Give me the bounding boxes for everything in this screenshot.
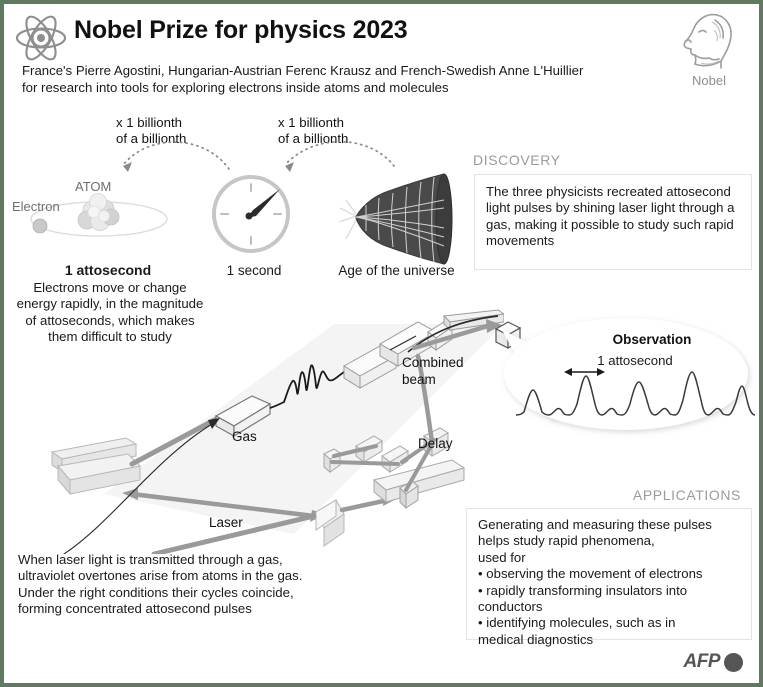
atom-icon — [12, 12, 70, 64]
caption-universe: Age of the universe — [314, 263, 479, 278]
combined-beam-line-2: beam — [402, 372, 464, 389]
discovery-panel: The three physicists recreated attosecon… — [474, 174, 752, 270]
universe-cone-illustration — [339, 174, 452, 264]
applications-bullet-3: • identifying molecules, such as in — [478, 615, 741, 631]
observation-subtitle: 1 attosecond — [560, 353, 710, 368]
infographic-frame: Nobel Prize for physics 2023 France's Pi… — [0, 0, 763, 687]
applications-intro-line-2: helps study rapid phenomena, — [478, 533, 741, 549]
nobel-badge: Nobel — [671, 10, 747, 88]
subtitle-line-2: for research into tools for exploring el… — [22, 79, 682, 96]
clock-illustration — [214, 177, 288, 251]
afp-logo-dot — [724, 653, 743, 672]
applications-bullet-3-cont: medical diagnostics — [478, 632, 741, 648]
label-delay: Delay — [418, 436, 453, 453]
label-gas: Gas — [232, 429, 257, 446]
nobel-badge-label: Nobel — [671, 73, 747, 88]
subtitle-line-1: France's Pierre Agostini, Hungarian-Aust… — [22, 62, 682, 79]
applications-intro-line-1: Generating and measuring these pulses — [478, 517, 741, 533]
afp-wordmark: AFP — [684, 651, 721, 673]
observation-title: Observation — [582, 332, 722, 347]
page-subtitle: France's Pierre Agostini, Hungarian-Aust… — [22, 62, 682, 96]
afp-logo: AFP — [684, 651, 744, 673]
applications-bullet-1: • observing the movement of electrons — [478, 566, 741, 582]
beam-to-delay — [342, 500, 388, 510]
discovery-heading: DISCOVERY — [473, 152, 561, 168]
dotted-arrow-2 — [285, 142, 394, 172]
applications-bullet-2-cont: conductors — [478, 599, 741, 615]
nucleus — [78, 194, 119, 231]
combined-beam-line-1: Combined — [402, 355, 464, 372]
atom-illustration: ATOM Electron — [12, 179, 167, 236]
label-laser: Laser — [209, 515, 243, 532]
applications-intro-line-3: used for — [478, 550, 741, 566]
laser-explanation-note: When laser light is transmitted through … — [18, 552, 328, 618]
electron-label: Electron — [12, 199, 60, 214]
applications-panel: Generating and measuring these pulses he… — [466, 508, 752, 640]
caption-attosecond: 1 attosecond — [28, 262, 188, 278]
infographic-canvas: Nobel Prize for physics 2023 France's Pi… — [4, 4, 759, 683]
applications-bullet-2: • rapidly transforming insulators into — [478, 583, 741, 599]
applications-heading: APPLICATIONS — [633, 487, 741, 503]
atom-label: ATOM — [75, 179, 111, 194]
nobel-portrait-icon — [671, 10, 747, 72]
dotted-arrow-1 — [123, 142, 229, 172]
electron-dot — [33, 219, 47, 233]
page-title: Nobel Prize for physics 2023 — [74, 16, 407, 45]
big-bang-spark — [339, 200, 356, 239]
observation-bubble: Observation 1 attosecond — [494, 310, 762, 470]
label-combined-beam: Combined beam — [402, 355, 464, 388]
caption-second: 1 second — [199, 263, 309, 278]
